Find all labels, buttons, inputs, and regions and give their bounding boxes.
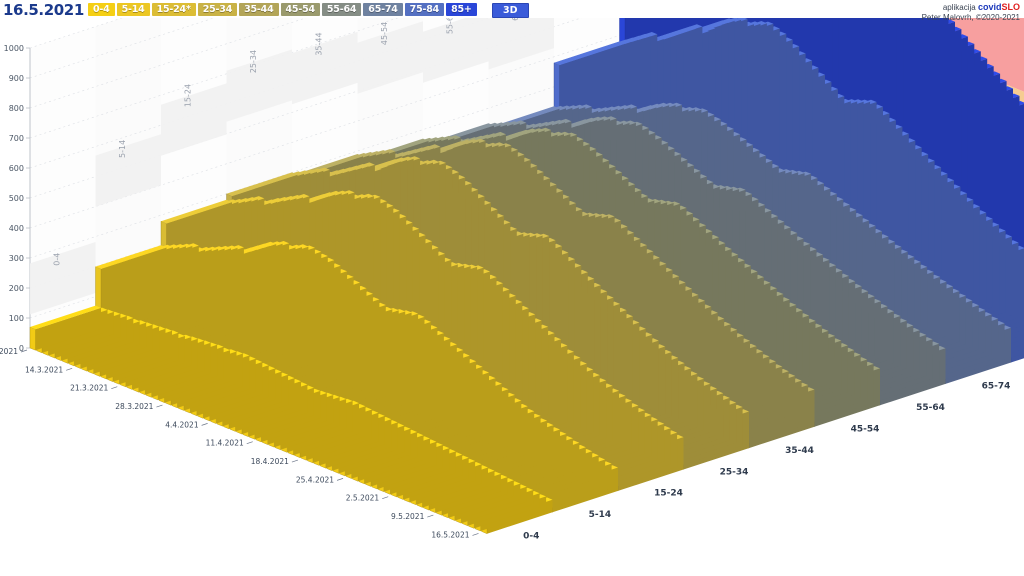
- chart-svg: 010020030040050060070080090010000-45-141…: [0, 18, 1024, 576]
- brand-slo-word: SLO: [1001, 2, 1020, 12]
- y-tick-label-1000: 1000: [4, 44, 24, 53]
- legend-chip-85+[interactable]: 85+: [446, 3, 477, 16]
- grid-line: [337, 478, 343, 480]
- grid-line: [427, 515, 433, 517]
- brand-prefix: aplikacija: [943, 3, 978, 12]
- chart-plot-area: 010020030040050060070080090010000-45-141…: [0, 18, 1024, 576]
- y-tick-label-600: 600: [9, 164, 24, 173]
- y-tick-label-800: 800: [9, 104, 24, 113]
- age-tick-45-54: 45-54: [851, 424, 880, 434]
- grid-line: [247, 442, 253, 444]
- legend-chip-1524[interactable]: 15-24*: [152, 3, 196, 16]
- date-tick-14.3.2021: 14.3.2021: [25, 365, 63, 374]
- y-tick-label-100: 100: [9, 314, 24, 323]
- y-tick-label-700: 700: [9, 134, 24, 143]
- date-tick-18.4.2021: 18.4.2021: [251, 457, 289, 466]
- date-tick-7.3.2021: 7.3.2021: [0, 347, 18, 356]
- y-tick-label-900: 900: [9, 74, 24, 83]
- age-tick-5-14: 5-14: [589, 510, 612, 520]
- date-tick-9.5.2021: 9.5.2021: [391, 512, 425, 521]
- grid-line: [473, 533, 479, 535]
- branding: aplikacija covidSLO Peter Malovrh, ©2020…: [922, 2, 1020, 23]
- date-tick-21.3.2021: 21.3.2021: [70, 384, 108, 393]
- brand-app-line: aplikacija covidSLO: [922, 2, 1020, 13]
- legend-chip-2534[interactable]: 25-34: [198, 3, 237, 16]
- legend-chip-7584[interactable]: 75-84: [405, 3, 444, 16]
- wall-panel-label-55-64: 55-64: [445, 18, 454, 34]
- legend-chip-5564[interactable]: 55-64: [322, 3, 361, 16]
- date-tick-16.5.2021: 16.5.2021: [431, 530, 469, 539]
- wall-panel-label-25-34: 25-34: [249, 50, 258, 73]
- date-tick-11.4.2021: 11.4.2021: [206, 439, 244, 448]
- selected-date-readout: 16.5.2021: [3, 1, 84, 19]
- wall-panel-label-15-24: 15-24: [183, 84, 192, 107]
- wall-panel-label-45-54: 45-54: [380, 22, 389, 45]
- wall-panel-label-5-14: 5-14: [118, 140, 127, 158]
- wall-panel-label-35-44: 35-44: [314, 32, 323, 55]
- age-tick-35-44: 35-44: [785, 446, 814, 456]
- y-tick-label-500: 500: [9, 194, 24, 203]
- grid-line: [66, 368, 72, 370]
- date-tick-25.4.2021: 25.4.2021: [296, 475, 334, 484]
- chart-surface: [30, 327, 36, 350]
- date-tick-28.3.2021: 28.3.2021: [115, 402, 153, 411]
- legend-chip-6574[interactable]: 65-74: [363, 3, 402, 16]
- age-tick-55-64: 55-64: [916, 403, 945, 413]
- y-tick-label-300: 300: [9, 254, 24, 263]
- age-tick-25-34: 25-34: [720, 467, 749, 477]
- y-axis: 01002003004005006007008009001000: [4, 44, 30, 353]
- grid-line: [156, 405, 162, 407]
- brand-author-line: Peter Malovrh, ©2020-2021: [922, 13, 1020, 23]
- y-tick-label-200: 200: [9, 284, 24, 293]
- covid-3d-chart-app: 16.5. 16.5.2021 0-45-1415-24*25-3435-444…: [0, 0, 1024, 576]
- grid-line: [292, 460, 298, 462]
- legend-chip-4554[interactable]: 45-54: [281, 3, 320, 16]
- wall-panel-label-0-4: 0-4: [52, 253, 61, 266]
- legend-chip-3544[interactable]: 35-44: [239, 3, 278, 16]
- grid-line: [202, 423, 208, 425]
- top-toolbar: 16.5. 16.5.2021 0-45-1415-24*25-3435-444…: [0, 0, 1024, 20]
- age-tick-0-4: 0-4: [523, 531, 539, 541]
- grid-line: [111, 387, 117, 389]
- legend-chip-514[interactable]: 5-14: [117, 3, 150, 16]
- grid-line: [382, 497, 388, 499]
- brand-covid-word: covid: [978, 2, 1002, 12]
- date-tick-4.4.2021: 4.4.2021: [165, 420, 199, 429]
- y-tick-label-400: 400: [9, 224, 24, 233]
- toggle-3d-button[interactable]: 3D: [492, 3, 529, 18]
- age-tick-15-24: 15-24: [654, 489, 683, 499]
- age-group-legend: 0-45-1415-24*25-3435-4445-5455-6465-7475…: [88, 3, 477, 16]
- legend-chip-04[interactable]: 0-4: [88, 3, 115, 16]
- age-tick-65-74: 65-74: [982, 382, 1011, 392]
- date-tick-2.5.2021: 2.5.2021: [346, 494, 380, 503]
